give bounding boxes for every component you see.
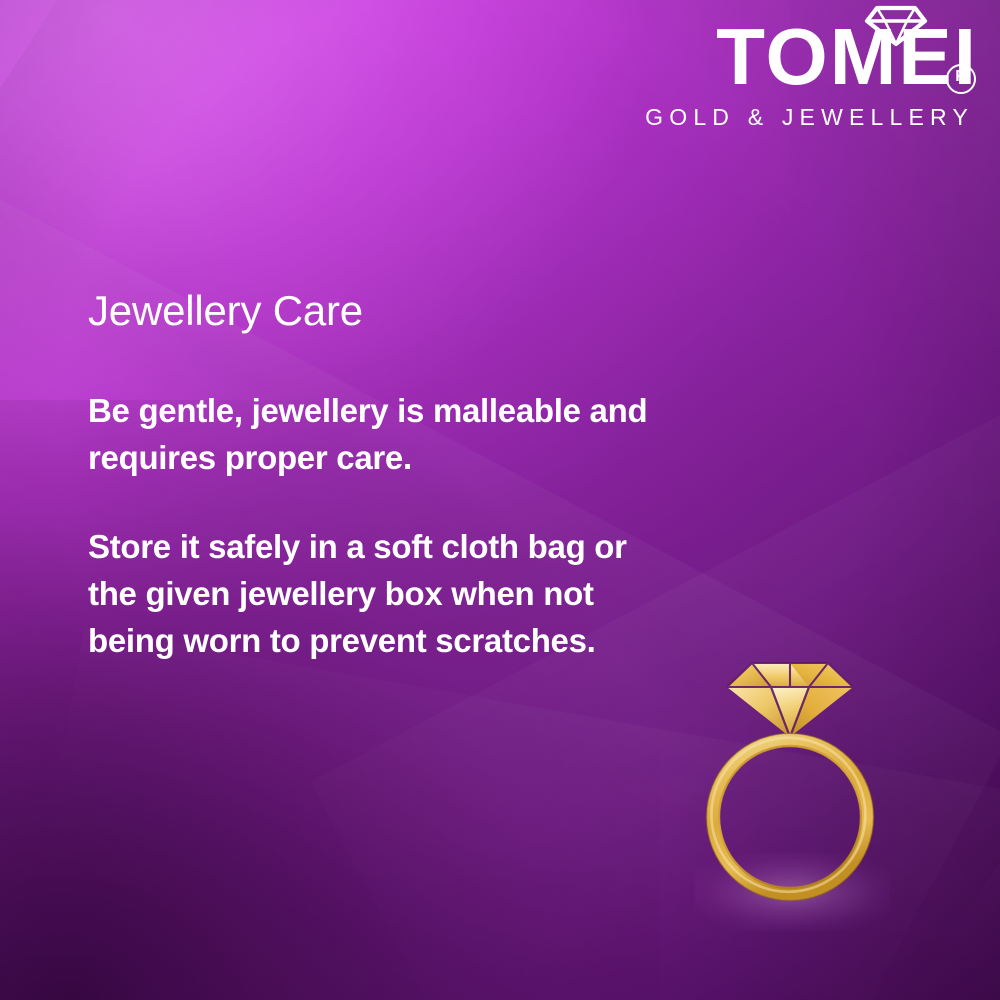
logo-wordmark-row: TOMEI R — [638, 14, 978, 100]
diamond-ring-illustration — [690, 645, 890, 945]
brand-logo: TOMEI R GOLD & JEWELLERY — [638, 14, 978, 131]
page-title: Jewellery Care — [88, 288, 668, 334]
care-paragraph-2: Store it safely in a soft cloth bag or t… — [88, 524, 668, 665]
logo-tagline: GOLD & JEWELLERY — [638, 104, 978, 131]
copy-block: Jewellery Care Be gentle, jewellery is m… — [88, 288, 668, 664]
logo-wordmark: TOMEI — [716, 14, 978, 100]
ring-graphic — [690, 645, 890, 945]
diamond-gem-icon — [727, 663, 853, 737]
ring-band-icon — [707, 734, 874, 901]
registered-trademark-icon: R — [946, 64, 976, 94]
care-paragraph-1: Be gentle, jewellery is malleable and re… — [88, 388, 668, 482]
diamond-outline-icon — [864, 5, 928, 47]
jewellery-care-card: TOMEI R GOLD & JEWELLERY Jewellery Care … — [0, 0, 1000, 1000]
